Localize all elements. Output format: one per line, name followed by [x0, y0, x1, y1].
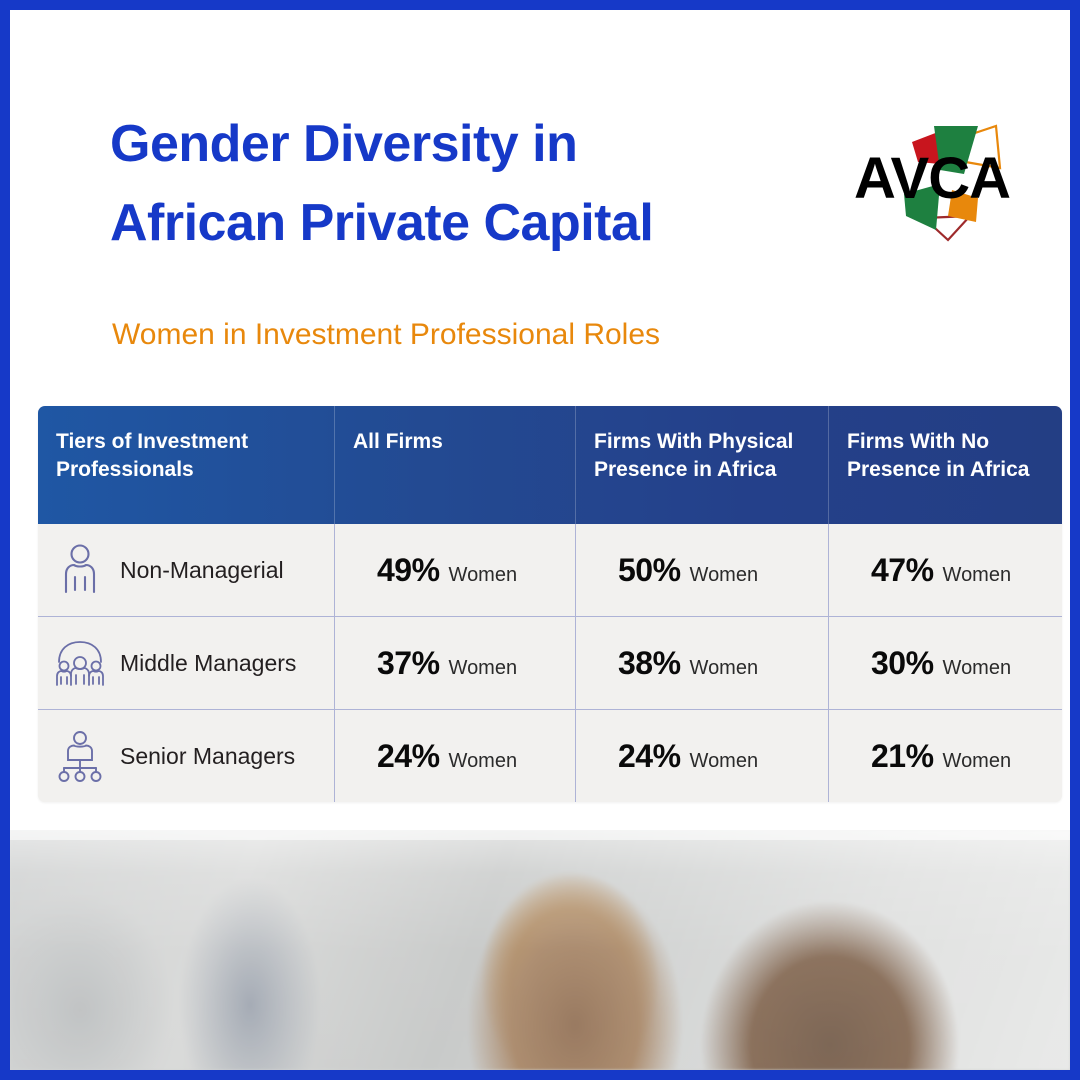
stat-percent: 24%	[377, 738, 440, 775]
office-meeting-photo	[10, 830, 1070, 1070]
column-header-all-firms: All Firms	[335, 406, 576, 524]
org-chart-icon	[54, 727, 106, 785]
stat-percent: 49%	[377, 552, 440, 589]
tier-label: Senior Managers	[120, 743, 295, 770]
single-person-icon	[54, 541, 106, 599]
tier-cell: Senior Managers	[38, 710, 335, 802]
data-table: Tiers of Investment Professionals All Fi…	[38, 406, 1062, 802]
photo-top-fade	[10, 830, 1070, 840]
value-cell-no-presence: 21% Women	[829, 710, 1062, 802]
stat-percent: 47%	[871, 552, 934, 589]
stat-group: 49% Women	[353, 552, 517, 589]
stat-group: 24% Women	[594, 738, 758, 775]
page-subtitle: Women in Investment Professional Roles	[112, 318, 660, 352]
tier-cell: Middle Managers	[38, 617, 335, 709]
title-line-2: African Private Capital	[110, 184, 810, 263]
stat-unit: Women	[690, 750, 759, 773]
stat-group: 50% Women	[594, 552, 758, 589]
table-row: Non-Managerial 49% Women 50% Women 47% W…	[38, 524, 1062, 617]
page-title: Gender Diversity in African Private Capi…	[110, 105, 810, 263]
title-line-1: Gender Diversity in	[110, 105, 810, 184]
stat-unit: Women	[943, 657, 1012, 680]
group-of-people-icon	[54, 634, 106, 692]
stat-percent: 30%	[871, 645, 934, 682]
stat-group: 21% Women	[847, 738, 1011, 775]
stat-unit: Women	[449, 750, 518, 773]
svg-text:AVCA: AVCA	[854, 146, 1010, 211]
photo-overlay	[10, 830, 1070, 1070]
stat-unit: Women	[690, 657, 759, 680]
table-row: Middle Managers 37% Women 38% Women 30% …	[38, 617, 1062, 710]
stat-percent: 21%	[871, 738, 934, 775]
stat-percent: 37%	[377, 645, 440, 682]
column-header-tiers: Tiers of Investment Professionals	[38, 406, 335, 524]
stat-group: 37% Women	[353, 645, 517, 682]
stat-group: 30% Women	[847, 645, 1011, 682]
tier-cell: Non-Managerial	[38, 524, 335, 616]
avca-logo-mark: AVCA	[848, 98, 1018, 248]
value-cell-all-firms: 37% Women	[335, 617, 576, 709]
stat-unit: Women	[943, 564, 1012, 587]
tier-label: Non-Managerial	[120, 557, 284, 584]
column-header-no-presence: Firms With No Presence in Africa	[829, 406, 1062, 524]
stat-percent: 50%	[618, 552, 681, 589]
stat-group: 38% Women	[594, 645, 758, 682]
avca-logo: AVCA	[848, 98, 1018, 248]
column-header-physical-presence: Firms With Physical Presence in Africa	[576, 406, 829, 524]
value-cell-no-presence: 47% Women	[829, 524, 1062, 616]
stat-unit: Women	[690, 564, 759, 587]
header-area: Gender Diversity in African Private Capi…	[10, 10, 1070, 360]
stat-group: 47% Women	[847, 552, 1011, 589]
value-cell-all-firms: 49% Women	[335, 524, 576, 616]
stat-group: 24% Women	[353, 738, 517, 775]
value-cell-physical-presence: 38% Women	[576, 617, 829, 709]
stat-unit: Women	[943, 750, 1012, 773]
infographic-canvas: Gender Diversity in African Private Capi…	[0, 0, 1080, 1080]
table-header-row: Tiers of Investment Professionals All Fi…	[38, 406, 1062, 524]
value-cell-all-firms: 24% Women	[335, 710, 576, 802]
value-cell-physical-presence: 24% Women	[576, 710, 829, 802]
value-cell-no-presence: 30% Women	[829, 617, 1062, 709]
table-row: Senior Managers 24% Women 24% Women 21% …	[38, 710, 1062, 802]
stat-percent: 38%	[618, 645, 681, 682]
stat-percent: 24%	[618, 738, 681, 775]
stat-unit: Women	[449, 657, 518, 680]
stat-unit: Women	[449, 564, 518, 587]
value-cell-physical-presence: 50% Women	[576, 524, 829, 616]
tier-label: Middle Managers	[120, 650, 296, 677]
